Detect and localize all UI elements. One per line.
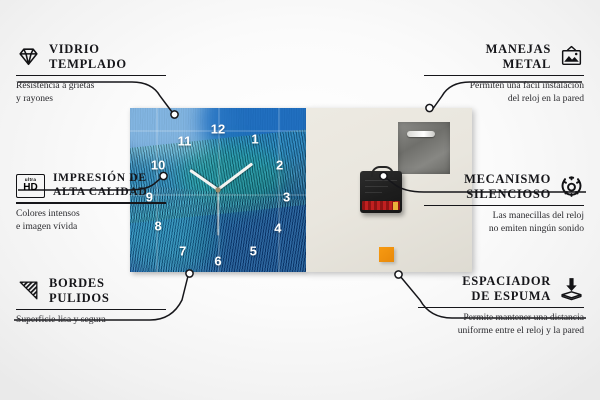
gear-icon (559, 174, 584, 199)
clock-numeral-2: 2 (276, 159, 283, 172)
callout-title-line2: PULIDOS (49, 291, 109, 306)
callout-header: MECANISMO SILENCIOSO (424, 172, 584, 202)
callout-bordes-pulidos[interactable]: BORDES PULIDOS Superficie lisa y segura (16, 276, 176, 327)
callout-title: IMPRESIÓN DE ALTA CALIDAD (53, 172, 147, 199)
movement-chip (393, 202, 398, 210)
callout-subtitle: Permiten una fácil instalación del reloj… (424, 80, 584, 106)
callout-espaciador-de-espuma[interactable]: ESPACIADOR DE ESPUMA Permite mantener un… (418, 274, 584, 338)
callout-title: MECANISMO SILENCIOSO (464, 172, 551, 202)
callout-header: VIDRIO TEMPLADO (16, 42, 176, 72)
clock-numeral-7: 7 (179, 244, 186, 257)
callout-title-line2: TEMPLADO (49, 57, 127, 72)
callout-subtitle-line1: Las manecillas del reloj (424, 210, 584, 223)
callout-subtitle: Permite mantener una distancia uniforme … (418, 312, 584, 338)
callout-vidrio-templado[interactable]: VIDRIO TEMPLADO Resistencia a grietas y … (16, 42, 176, 106)
callout-title: MANEJAS METAL (486, 42, 551, 72)
diamond-icon (16, 44, 41, 69)
callout-subtitle: Colores intensos e imagen vívida (16, 208, 176, 234)
callout-mecanismo-silencioso[interactable]: MECANISMO SILENCIOSO Las manecillas del … (424, 172, 584, 236)
callout-header: ultra HD IMPRESIÓN DE ALTA CALIDAD (16, 172, 176, 199)
clock-numeral-11: 11 (178, 134, 192, 147)
clock-numeral-12: 12 (211, 123, 225, 136)
clock-numeral-5: 5 (250, 244, 257, 257)
clock-numeral-1: 1 (251, 133, 258, 146)
metal-hanger-plate (398, 122, 450, 174)
callout-header: ESPACIADOR DE ESPUMA (418, 274, 584, 304)
callout-title-line1: BORDES (49, 276, 109, 291)
callout-subtitle: Las manecillas del reloj no emiten ningú… (424, 210, 584, 236)
movement-detail (365, 192, 382, 193)
callout-title: BORDES PULIDOS (49, 276, 109, 306)
foam-spacer-piece (379, 247, 394, 262)
callout-title-line1: VIDRIO (49, 42, 127, 57)
product-photo: 12 1 2 3 4 5 6 7 8 9 10 11 (130, 108, 472, 272)
callout-subtitle-line2: y rayones (16, 93, 176, 106)
hanging-frame-icon (559, 44, 584, 69)
callout-rule (418, 307, 584, 309)
callout-header: MANEJAS METAL (424, 42, 584, 72)
callout-subtitle-line2: del reloj en la pared (424, 93, 584, 106)
quartz-movement (360, 171, 402, 213)
callout-title: VIDRIO TEMPLADO (49, 42, 127, 72)
callout-impresion-alta-calidad[interactable]: ultra HD IMPRESIÓN DE ALTA CALIDAD Color… (16, 172, 176, 234)
callout-subtitle-line1: Colores intensos (16, 208, 176, 221)
polished-edge-icon (16, 278, 41, 303)
callout-subtitle: Superficie lisa y segura (16, 314, 176, 327)
ultra-hd-icon: ultra HD (16, 174, 45, 198)
callout-title-line1: MECANISMO (464, 172, 551, 187)
second-hand (217, 190, 218, 236)
movement-hanger-loop (371, 166, 394, 177)
movement-detail (365, 180, 397, 181)
callout-subtitle-line2: no emiten ningún sonido (424, 223, 584, 236)
callout-header: BORDES PULIDOS (16, 276, 176, 306)
callout-title-line1: ESPACIADOR (462, 274, 551, 289)
clock-numeral-6: 6 (214, 254, 221, 267)
callout-title-line2: DE ESPUMA (462, 289, 551, 304)
movement-detail (365, 186, 388, 187)
clock-numeral-3: 3 (283, 190, 290, 203)
callout-subtitle-line2: uniforme entre el reloj y la pared (418, 325, 584, 338)
callout-rule (424, 75, 584, 77)
callout-title-line2: SILENCIOSO (464, 187, 551, 202)
callout-subtitle-line1: Resistencia a grietas (16, 80, 176, 93)
callout-rule (16, 75, 166, 77)
callout-rule (16, 309, 166, 311)
callout-title: ESPACIADOR DE ESPUMA (462, 274, 551, 304)
callout-subtitle-line2: e imagen vívida (16, 221, 176, 234)
callout-rule (424, 205, 584, 207)
infographic-canvas: 12 1 2 3 4 5 6 7 8 9 10 11 (0, 0, 600, 400)
callout-subtitle-line1: Superficie lisa y segura (16, 314, 176, 327)
clock-center-pin (216, 188, 221, 193)
hanger-keyhole-slot (407, 131, 435, 137)
ultra-hd-icon-main: HD (23, 183, 37, 193)
callout-title-line2: METAL (486, 57, 551, 72)
callout-rule (16, 202, 166, 204)
callout-title-line1: IMPRESIÓN DE (53, 172, 147, 186)
callout-subtitle-line1: Permite mantener una distancia (418, 312, 584, 325)
callout-subtitle: Resistencia a grietas y rayones (16, 80, 176, 106)
callout-title-line2: ALTA CALIDAD (53, 186, 147, 200)
art-grid-line (278, 108, 280, 272)
callout-manejas-metal[interactable]: MANEJAS METAL Permiten una fácil instala… (424, 42, 584, 106)
foam-spacer-icon (559, 276, 584, 301)
clock-numeral-10: 10 (151, 159, 165, 172)
clock-numeral-4: 4 (274, 221, 281, 234)
callout-title-line1: MANEJAS (486, 42, 551, 57)
callout-subtitle-line1: Permiten una fácil instalación (424, 80, 584, 93)
